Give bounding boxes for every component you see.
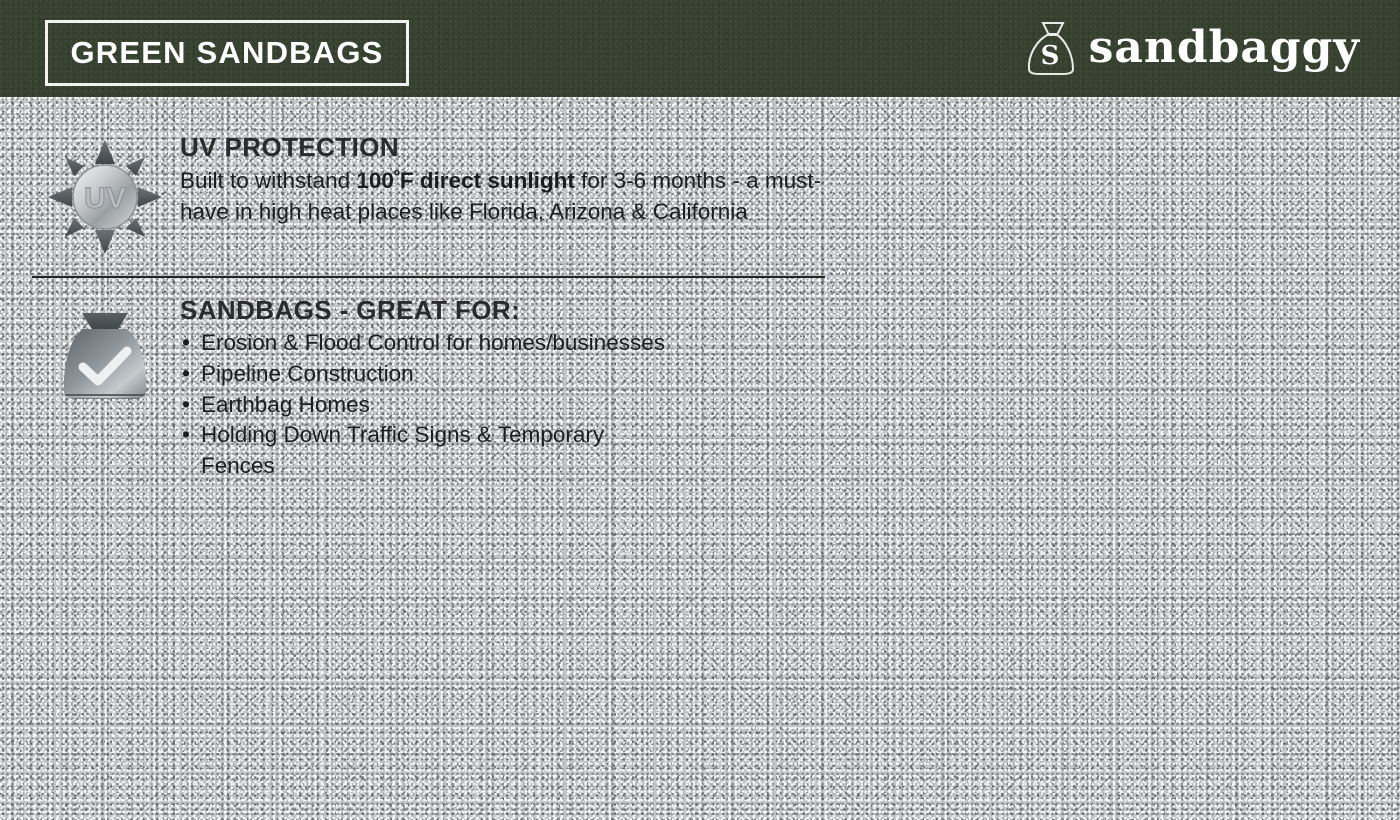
product-infographic: GREEN SANDBAGS S sandbaggy	[0, 0, 1400, 820]
uv-label: UV	[84, 182, 126, 215]
bag-body	[64, 329, 146, 399]
uses-text-column: SANDBAGS - GREAT FOR: Erosion & Flood Co…	[180, 295, 671, 482]
uv-icon-column: UV	[30, 132, 180, 256]
uv-body-prefix: Built to withstand	[180, 168, 356, 193]
uses-list: Erosion & Flood Control for homes/busine…	[180, 328, 671, 482]
sandbag-check-icon	[57, 301, 153, 411]
uv-body: Built to withstand 100ºF direct sunlight…	[180, 165, 830, 227]
section-divider	[32, 276, 825, 278]
page-title-box: GREEN SANDBAGS	[45, 20, 409, 86]
list-item: Erosion & Flood Control for homes/busine…	[180, 328, 671, 359]
list-item: Pipeline Construction	[180, 359, 671, 390]
logo-letter: S	[1040, 41, 1059, 71]
uses-heading: SANDBAGS - GREAT FOR:	[180, 295, 671, 326]
uv-sun-icon: UV	[46, 138, 164, 256]
uv-text-column: UV PROTECTION Built to withstand 100ºF d…	[180, 132, 830, 227]
list-item: Holding Down Traffic Signs & Temporary F…	[180, 420, 671, 482]
feature-uv-protection: UV UV PROTECTION Built to withstand 100º…	[30, 132, 830, 256]
feature-sandbag-uses: SANDBAGS - GREAT FOR: Erosion & Flood Co…	[30, 295, 671, 482]
header-bar: GREEN SANDBAGS S sandbaggy	[0, 0, 1400, 97]
list-item: Earthbag Homes	[180, 390, 671, 421]
uv-body-highlight: 100ºF direct sunlight	[356, 168, 574, 193]
brand-logo[interactable]: S sandbaggy	[1023, 19, 1360, 77]
bag-icon-column	[30, 295, 180, 411]
bag-knot	[82, 313, 128, 331]
page-title: GREEN SANDBAGS	[70, 35, 383, 71]
uv-heading: UV PROTECTION	[180, 132, 830, 163]
brand-name: sandbaggy	[1089, 26, 1360, 70]
sandbag-logo-icon: S	[1023, 19, 1075, 77]
